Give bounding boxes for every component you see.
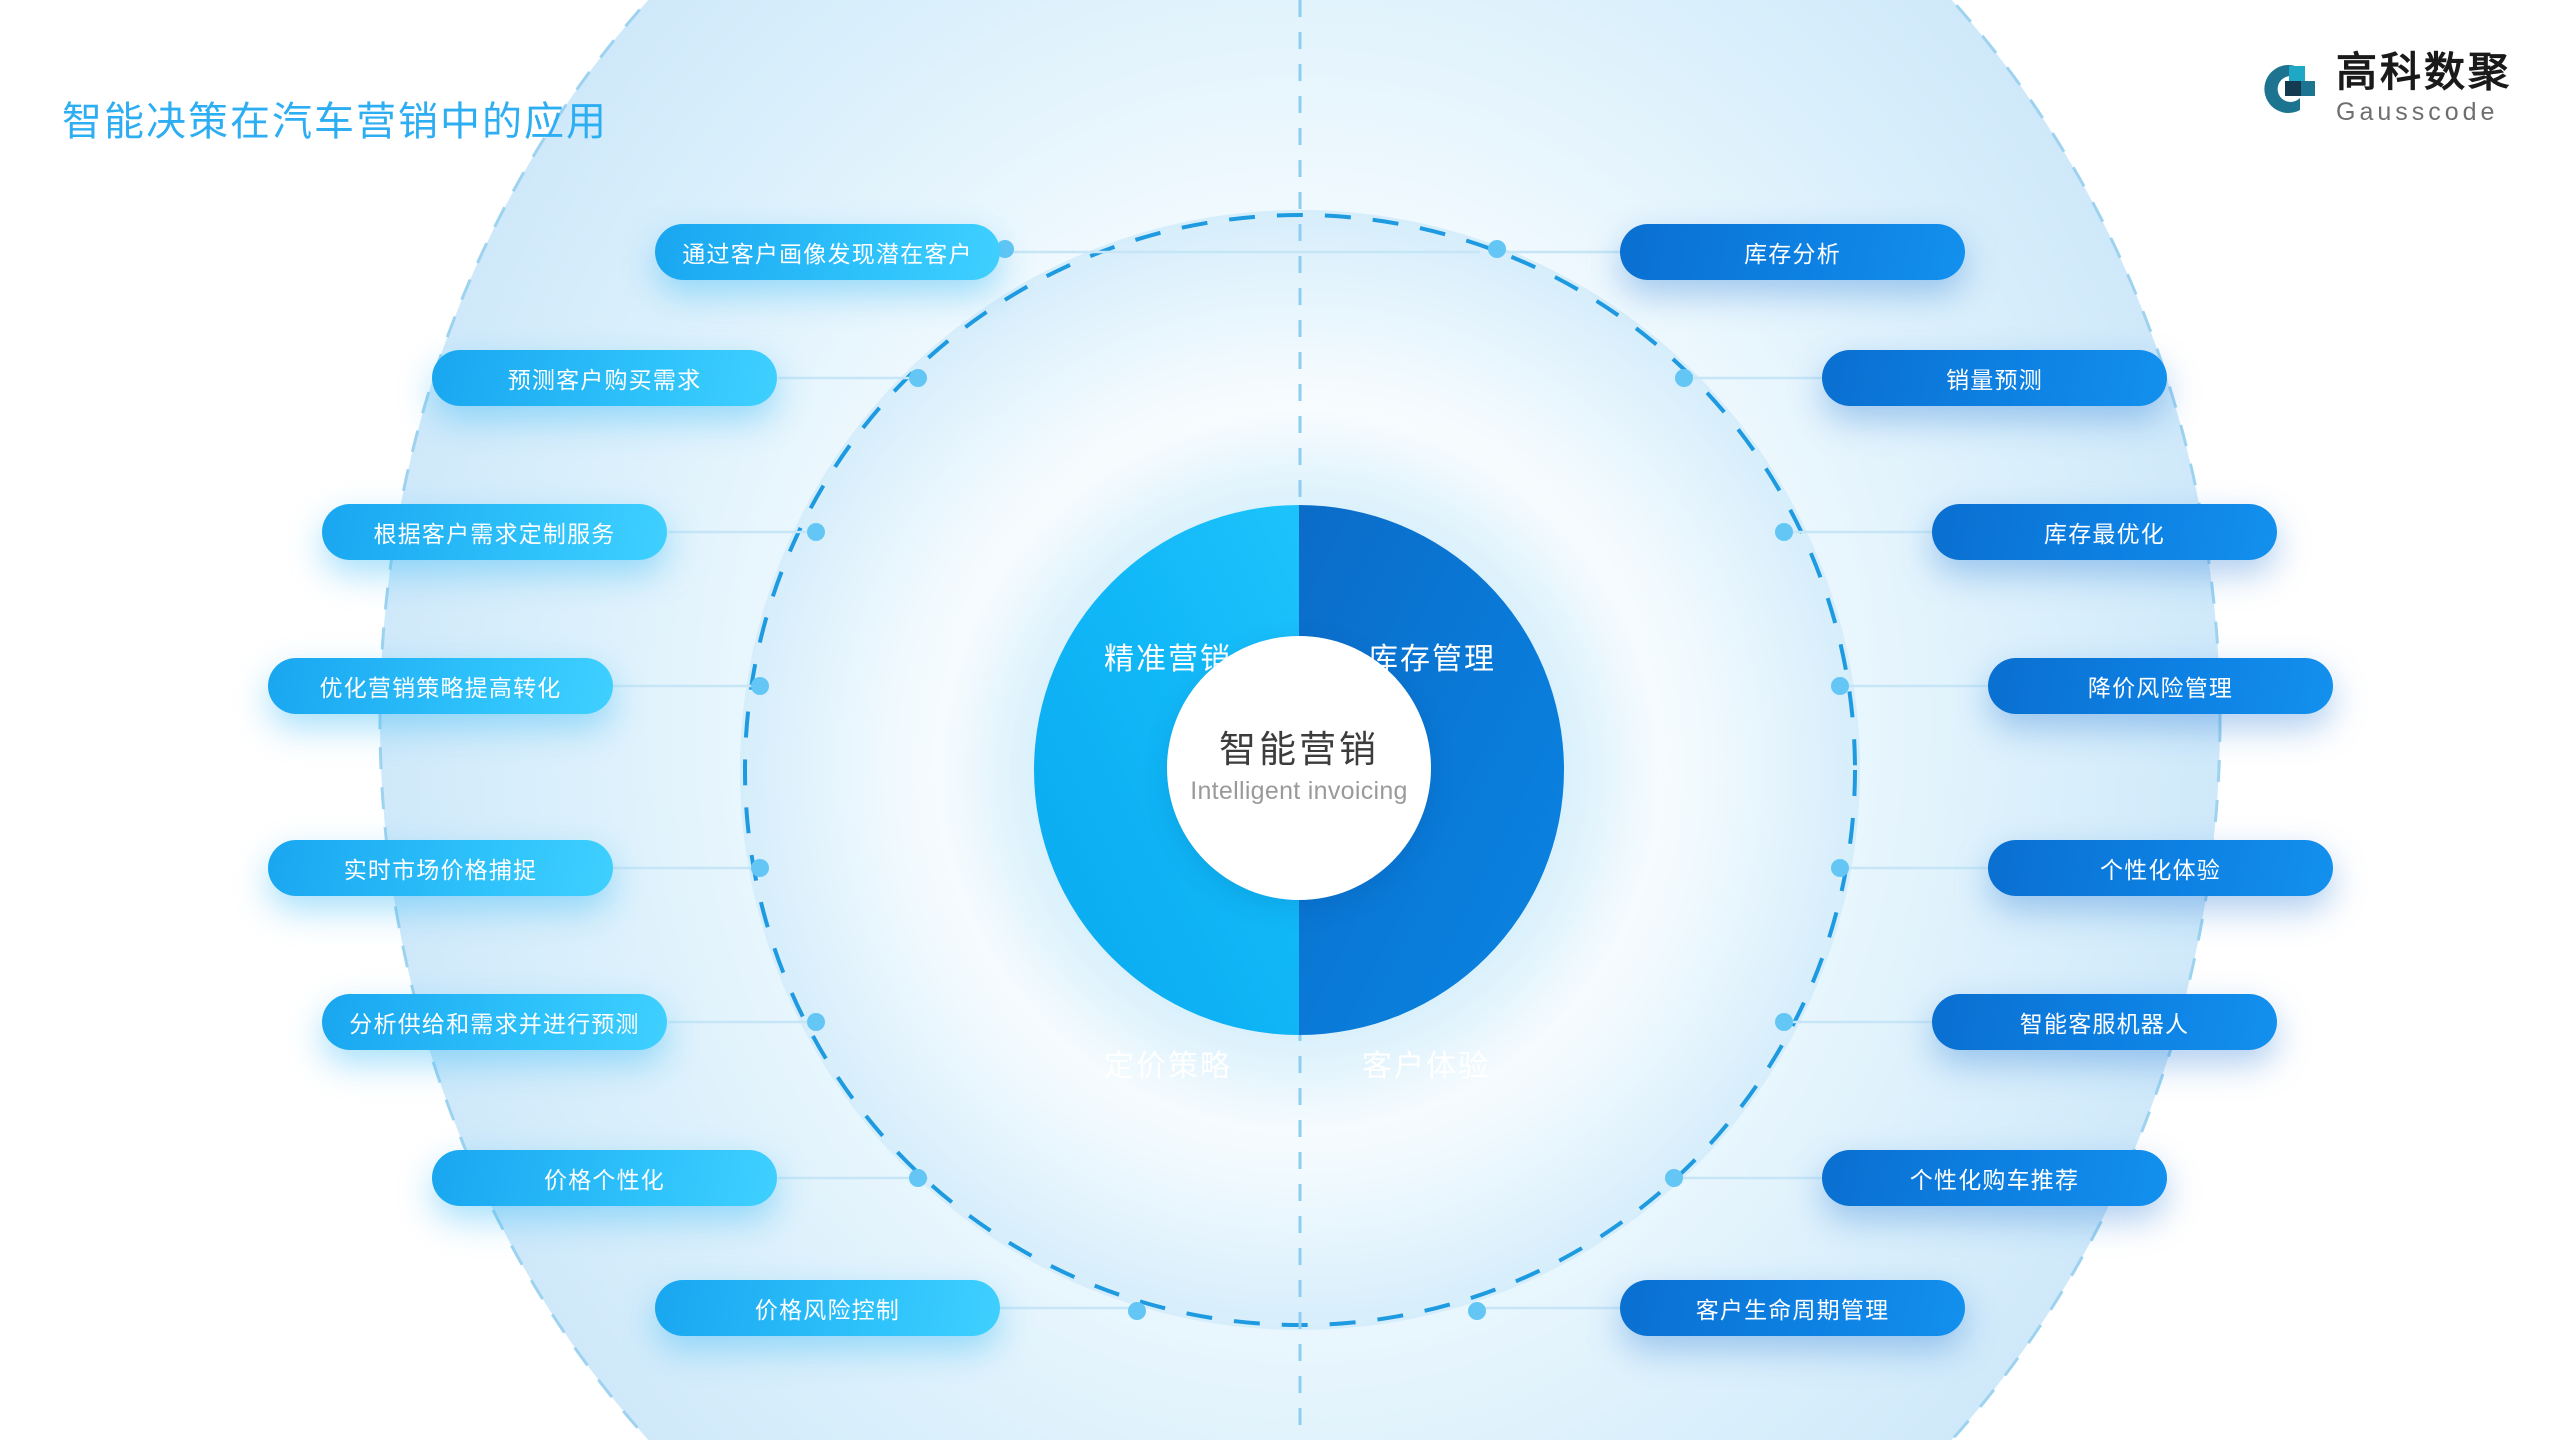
pill-left-2[interactable]: 预测客户购买需求 <box>432 350 777 406</box>
connector-dot <box>807 1013 825 1031</box>
pill-right-1[interactable]: 库存分析 <box>1620 224 1965 280</box>
pill-right-4[interactable]: 降价风险管理 <box>1988 658 2333 714</box>
central-hub: 精准营销 库存管理 定价策略 客户体验 智能营销 Intelligent inv… <box>1032 503 1566 1037</box>
pill-right-2[interactable]: 销量预测 <box>1822 350 2167 406</box>
connector-dot <box>1488 240 1506 258</box>
connector-dot <box>1665 1169 1683 1187</box>
hub-core-subtitle: Intelligent invoicing <box>1190 777 1408 806</box>
connector-dot <box>1775 523 1793 541</box>
pill-left-3[interactable]: 根据客户需求定制服务 <box>322 504 667 560</box>
connector-dot <box>751 859 769 877</box>
brand-text: 高科数聚 Gausscode <box>2336 52 2512 125</box>
hub-core-title: 智能营销 <box>1219 730 1379 771</box>
pill-right-3[interactable]: 库存最优化 <box>1932 504 2277 560</box>
connector-dot <box>909 369 927 387</box>
brand-name-en: Gausscode <box>2336 100 2512 125</box>
connector-dot <box>909 1169 927 1187</box>
pill-right-8[interactable]: 客户生命周期管理 <box>1620 1280 1965 1336</box>
infographic-canvas: 智能决策在汽车营销中的应用 高科数聚 Gausscode <box>0 0 2560 1440</box>
pill-right-7[interactable]: 个性化购车推荐 <box>1822 1150 2167 1206</box>
hub-core-circle: 智能营销 Intelligent invoicing <box>1167 636 1431 900</box>
connector-dot <box>1831 859 1849 877</box>
connector-dot <box>751 677 769 695</box>
pill-left-8[interactable]: 价格风险控制 <box>655 1280 1000 1336</box>
connector-dot <box>1775 1013 1793 1031</box>
pill-left-1[interactable]: 通过客户画像发现潜在客户 <box>655 224 1000 280</box>
connector-dot <box>1831 677 1849 695</box>
hub-quadrant-label-bottom-right: 客户体验 <box>1362 1041 1490 1085</box>
pill-left-4[interactable]: 优化营销策略提高转化 <box>268 658 613 714</box>
connector-dot <box>1128 1302 1146 1320</box>
pill-right-6[interactable]: 智能客服机器人 <box>1932 994 2277 1050</box>
page-title: 智能决策在汽车营销中的应用 <box>62 102 608 142</box>
brand-name-cn: 高科数聚 <box>2336 52 2512 93</box>
pill-right-5[interactable]: 个性化体验 <box>1988 840 2333 896</box>
connector-dot <box>1468 1302 1486 1320</box>
pill-left-7[interactable]: 价格个性化 <box>432 1150 777 1206</box>
gausscode-logo-icon <box>2256 58 2318 120</box>
connector-dot <box>1675 369 1693 387</box>
pill-left-5[interactable]: 实时市场价格捕捉 <box>268 840 613 896</box>
pill-left-6[interactable]: 分析供给和需求并进行预测 <box>322 994 667 1050</box>
brand-logo: 高科数聚 Gausscode <box>2256 52 2512 125</box>
connector-dot <box>807 523 825 541</box>
hub-quadrant-label-bottom-left: 定价策略 <box>1104 1041 1232 1085</box>
